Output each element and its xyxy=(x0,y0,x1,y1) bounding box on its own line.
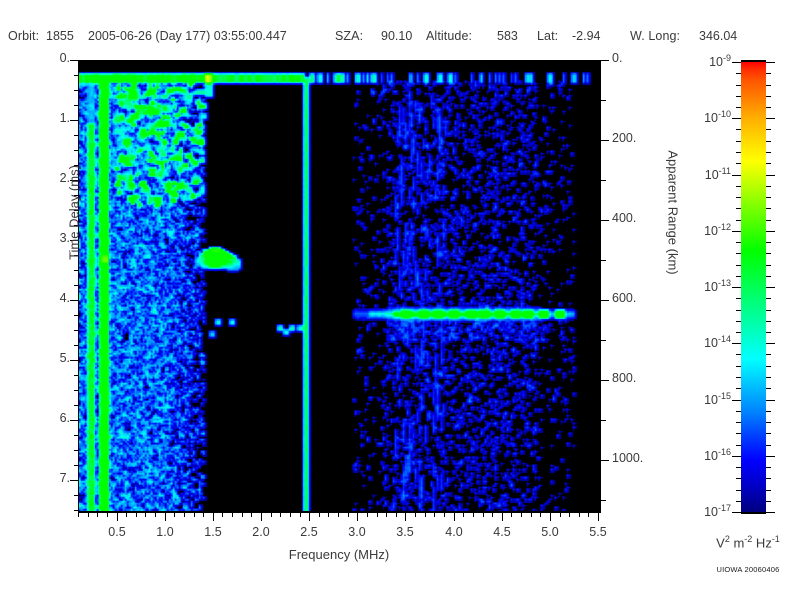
y2-tick-major-3 xyxy=(601,300,609,301)
colorbar-units-label: V2 m-2 Hz-1 xyxy=(700,534,796,550)
ionogram-heatmap-canvas xyxy=(79,61,600,512)
y2-tick-major-4 xyxy=(601,380,609,381)
x-tick-minor xyxy=(434,513,435,517)
colorbar-tick-right-0 xyxy=(766,62,775,63)
colorbar-tick-minor xyxy=(766,276,771,277)
colorbar-tick-label-8: 10-17 xyxy=(675,503,731,519)
y2-tick-label-2: 400. xyxy=(612,211,660,225)
y-tick-minor xyxy=(74,465,78,466)
x-tick-label-10: 5.5 xyxy=(574,525,622,539)
x-tick-minor xyxy=(569,513,570,517)
y-tick-label-0: 0. xyxy=(26,51,70,65)
colorbar-tick-minor xyxy=(736,354,741,355)
ionogram-page: Orbit: 1855 2005-06-26 (Day 177) 03:55:0… xyxy=(0,0,800,600)
colorbar-tick-minor xyxy=(736,501,741,502)
colorbar-tick-label-1: 10-10 xyxy=(675,109,731,125)
colorbar-tick-right-5 xyxy=(766,343,775,344)
y-tick-major-1 xyxy=(70,120,78,121)
x-tick-label-5: 3.0 xyxy=(333,525,381,539)
ionogram-plot-area xyxy=(78,60,600,512)
x-tick-minor xyxy=(78,513,79,517)
colorbar-tick-minor xyxy=(766,141,771,142)
west-longitude-label: W. Long: xyxy=(630,29,680,43)
altitude-value: 583 xyxy=(497,29,518,43)
y-tick-minor xyxy=(74,435,78,436)
colorbar-tick-minor xyxy=(736,197,741,198)
west-longitude-value: 346.04 xyxy=(699,29,737,43)
colorbar-tick-minor xyxy=(766,152,771,153)
x-tick-major-0 xyxy=(117,513,118,521)
colorbar-tick-minor xyxy=(736,73,741,74)
colorbar-tick-minor xyxy=(766,354,771,355)
y2-tick-label-3: 600. xyxy=(612,291,660,305)
x-tick-minor xyxy=(328,513,329,517)
y-tick-minor xyxy=(74,330,78,331)
x-tick-label-1: 1.0 xyxy=(141,525,189,539)
colorbar-tick-minor xyxy=(736,433,741,434)
colorbar-tick-left-2 xyxy=(732,175,741,176)
datetime-value: 2005-06-26 (Day 177) 03:55:00.447 xyxy=(88,29,287,43)
colorbar-tick-label-7: 10-16 xyxy=(675,447,731,463)
y-tick-minor xyxy=(74,345,78,346)
x-tick-minor xyxy=(222,513,223,517)
colorbar-tick-minor xyxy=(736,490,741,491)
sza-value: 90.10 xyxy=(381,29,412,43)
y2-tick-major-1 xyxy=(601,140,609,141)
colorbar-tick-minor xyxy=(736,366,741,367)
x-tick-minor xyxy=(290,513,291,517)
colorbar-tick-left-0 xyxy=(732,62,741,63)
y2-tick-label-5: 1000. xyxy=(612,451,660,465)
y-tick-minor xyxy=(74,315,78,316)
colorbar-tick-left-6 xyxy=(732,400,741,401)
colorbar-tick-minor xyxy=(736,242,741,243)
units-v: V xyxy=(716,535,725,550)
colorbar-gradient xyxy=(741,62,766,512)
y-tick-major-7 xyxy=(70,480,78,481)
x-tick-major-1 xyxy=(165,513,166,521)
x-tick-label-9: 5.0 xyxy=(526,525,574,539)
cb-mantissa-5: 10 xyxy=(704,336,718,350)
cb-exponent-2: -11 xyxy=(719,166,731,176)
x-tick-minor xyxy=(242,513,243,517)
x-tick-minor xyxy=(415,513,416,517)
x-tick-major-6 xyxy=(405,513,406,521)
x-tick-minor xyxy=(300,513,301,517)
colorbar-tick-minor xyxy=(736,129,741,130)
x-tick-minor xyxy=(145,513,146,517)
x-tick-minor xyxy=(560,513,561,517)
x-tick-label-8: 4.5 xyxy=(478,525,526,539)
colorbar-tick-minor xyxy=(766,310,771,311)
x-tick-label-0: 0.5 xyxy=(93,525,141,539)
units-hz-exp: -1 xyxy=(772,534,780,544)
latitude-label: Lat: xyxy=(537,29,558,43)
x-tick-minor xyxy=(425,513,426,517)
cb-exponent-6: -15 xyxy=(718,391,731,401)
x-tick-minor xyxy=(126,513,127,517)
x-tick-minor xyxy=(540,513,541,517)
y-tick-label-3: 3. xyxy=(26,231,70,245)
y-tick-minor xyxy=(74,75,78,76)
colorbar-tick-minor xyxy=(766,411,771,412)
x-axis-top-line xyxy=(78,60,601,61)
colorbar-tick-minor xyxy=(766,242,771,243)
colorbar-tick-label-4: 10-13 xyxy=(675,278,731,294)
x-tick-minor xyxy=(588,513,589,517)
colorbar xyxy=(741,62,766,512)
colorbar-tick-right-1 xyxy=(766,118,775,119)
x-tick-major-8 xyxy=(502,513,503,521)
x-tick-label-3: 2.0 xyxy=(237,525,285,539)
x-tick-minor xyxy=(579,513,580,517)
x-tick-minor xyxy=(348,513,349,517)
y-tick-minor xyxy=(74,375,78,376)
colorbar-tick-right-3 xyxy=(766,231,775,232)
colorbar-tick-minor xyxy=(736,332,741,333)
colorbar-tick-minor xyxy=(766,332,771,333)
x-tick-minor xyxy=(492,513,493,517)
observation-header: Orbit: 1855 2005-06-26 (Day 177) 03:55:0… xyxy=(0,29,800,49)
y2-tick-major-2 xyxy=(601,220,609,221)
y2-tick-minor xyxy=(601,340,606,341)
colorbar-tick-right-7 xyxy=(766,456,775,457)
x-tick-minor xyxy=(203,513,204,517)
x-tick-minor xyxy=(184,513,185,517)
y-tick-minor xyxy=(74,450,78,451)
cb-exponent-3: -12 xyxy=(718,222,731,232)
colorbar-tick-minor xyxy=(766,445,771,446)
cb-mantissa-6: 10 xyxy=(704,393,718,407)
colorbar-tick-minor xyxy=(766,433,771,434)
x-tick-minor xyxy=(531,513,532,517)
colorbar-tick-minor xyxy=(766,253,771,254)
colorbar-tick-minor xyxy=(766,298,771,299)
x-tick-minor xyxy=(88,513,89,517)
x-tick-minor xyxy=(367,513,368,517)
y-tick-label-7: 7. xyxy=(26,471,70,485)
institution-credit: UIOWA 20060406 xyxy=(700,565,796,574)
colorbar-tick-minor xyxy=(736,321,741,322)
x-tick-minor xyxy=(251,513,252,517)
cb-exponent-0: -9 xyxy=(723,53,731,63)
y-axis-right-line xyxy=(600,60,601,513)
y-tick-label-6: 6. xyxy=(26,411,70,425)
x-tick-minor xyxy=(386,513,387,517)
colorbar-tick-right-4 xyxy=(766,287,775,288)
colorbar-tick-minor xyxy=(736,478,741,479)
x-tick-minor xyxy=(521,513,522,517)
colorbar-tick-left-3 xyxy=(732,231,741,232)
colorbar-tick-minor xyxy=(766,186,771,187)
units-m: m xyxy=(730,535,744,550)
colorbar-tick-left-1 xyxy=(732,118,741,119)
colorbar-tick-minor xyxy=(736,85,741,86)
colorbar-tick-minor xyxy=(736,208,741,209)
colorbar-tick-right-2 xyxy=(766,175,775,176)
x-axis-bottom-line xyxy=(78,512,601,513)
y-tick-minor xyxy=(74,390,78,391)
colorbar-tick-minor xyxy=(736,310,741,311)
y-tick-minor xyxy=(74,495,78,496)
colorbar-tick-right-8 xyxy=(766,512,775,513)
x-tick-minor xyxy=(155,513,156,517)
orbit-value: 1855 xyxy=(46,29,74,43)
x-tick-major-9 xyxy=(550,513,551,521)
colorbar-tick-minor xyxy=(736,445,741,446)
colorbar-tick-minor xyxy=(766,107,771,108)
x-tick-minor xyxy=(377,513,378,517)
colorbar-tick-label-0: 10-9 xyxy=(675,53,731,69)
y-tick-major-4 xyxy=(70,300,78,301)
colorbar-tick-label-2: 10-11 xyxy=(675,166,731,182)
y2-tick-minor xyxy=(601,500,606,501)
cb-mantissa-4: 10 xyxy=(704,280,718,294)
cb-mantissa-8: 10 xyxy=(704,505,718,519)
colorbar-tick-minor xyxy=(766,129,771,130)
colorbar-tick-minor xyxy=(766,96,771,97)
colorbar-tick-minor xyxy=(736,298,741,299)
x-tick-minor xyxy=(463,513,464,517)
y2-tick-major-5 xyxy=(601,460,609,461)
colorbar-tick-minor xyxy=(736,411,741,412)
colorbar-tick-minor xyxy=(736,220,741,221)
colorbar-tick-label-3: 10-12 xyxy=(675,222,731,238)
colorbar-tick-minor xyxy=(766,366,771,367)
colorbar-tick-minor xyxy=(736,163,741,164)
colorbar-tick-minor xyxy=(766,467,771,468)
y-tick-minor xyxy=(74,105,78,106)
colorbar-tick-minor xyxy=(766,73,771,74)
sza-label: SZA: xyxy=(335,29,363,43)
colorbar-top-cap xyxy=(741,60,766,62)
cb-exponent-5: -14 xyxy=(718,334,731,344)
x-tick-minor xyxy=(97,513,98,517)
x-tick-minor xyxy=(280,513,281,517)
x-tick-major-7 xyxy=(454,513,455,521)
cb-mantissa-0: 10 xyxy=(709,55,723,69)
y2-tick-major-0 xyxy=(601,60,609,61)
y-tick-minor xyxy=(74,405,78,406)
x-tick-major-10 xyxy=(598,513,599,521)
cb-exponent-7: -16 xyxy=(718,447,731,457)
colorbar-tick-minor xyxy=(736,265,741,266)
colorbar-tick-minor xyxy=(736,377,741,378)
x-tick-minor xyxy=(319,513,320,517)
y-tick-label-5: 5. xyxy=(26,351,70,365)
y2-tick-label-4: 800. xyxy=(612,371,660,385)
colorbar-tick-minor xyxy=(766,208,771,209)
x-tick-major-2 xyxy=(213,513,214,521)
y-tick-minor xyxy=(74,90,78,91)
colorbar-tick-minor xyxy=(766,478,771,479)
y2-tick-minor xyxy=(601,420,606,421)
y2-tick-minor xyxy=(601,100,606,101)
units-hz: Hz xyxy=(752,535,772,550)
colorbar-tick-minor xyxy=(736,96,741,97)
x-tick-major-5 xyxy=(357,513,358,521)
y-tick-label-4: 4. xyxy=(26,291,70,305)
x-tick-minor xyxy=(473,513,474,517)
colorbar-tick-minor xyxy=(736,107,741,108)
x-tick-label-6: 3.5 xyxy=(381,525,429,539)
y-tick-label-1: 1. xyxy=(26,111,70,125)
x-tick-label-7: 4.0 xyxy=(430,525,478,539)
cb-mantissa-2: 10 xyxy=(705,168,719,182)
colorbar-tick-right-6 xyxy=(766,400,775,401)
colorbar-tick-left-7 xyxy=(732,456,741,457)
cb-exponent-4: -13 xyxy=(718,278,731,288)
colorbar-tick-minor xyxy=(766,197,771,198)
x-axis-title: Frequency (MHz) xyxy=(78,547,600,562)
y-tick-label-2: 2. xyxy=(26,171,70,185)
cb-mantissa-3: 10 xyxy=(704,224,718,238)
colorbar-tick-minor xyxy=(736,467,741,468)
x-tick-minor xyxy=(511,513,512,517)
colorbar-tick-minor xyxy=(736,152,741,153)
y2-tick-label-1: 200. xyxy=(612,131,660,145)
y2-tick-minor xyxy=(601,180,606,181)
x-tick-minor xyxy=(338,513,339,517)
colorbar-tick-left-8 xyxy=(732,512,741,513)
x-tick-major-4 xyxy=(309,513,310,521)
colorbar-tick-minor xyxy=(766,501,771,502)
altitude-label: Altitude: xyxy=(426,29,472,43)
y-tick-major-6 xyxy=(70,420,78,421)
colorbar-tick-minor xyxy=(766,321,771,322)
x-tick-minor xyxy=(271,513,272,517)
colorbar-tick-minor xyxy=(766,490,771,491)
x-tick-label-4: 2.5 xyxy=(285,525,333,539)
colorbar-bottom-cap xyxy=(741,512,766,514)
cb-mantissa-1: 10 xyxy=(704,111,718,125)
x-tick-minor xyxy=(194,513,195,517)
x-tick-minor xyxy=(444,513,445,517)
x-tick-minor xyxy=(174,513,175,517)
y-tick-major-0 xyxy=(70,60,78,61)
colorbar-tick-minor xyxy=(736,388,741,389)
x-tick-minor xyxy=(136,513,137,517)
colorbar-tick-left-5 xyxy=(732,343,741,344)
x-tick-minor xyxy=(107,513,108,517)
colorbar-tick-left-4 xyxy=(732,287,741,288)
cb-exponent-8: -17 xyxy=(718,503,731,513)
x-tick-minor xyxy=(232,513,233,517)
y2-tick-minor xyxy=(601,260,606,261)
y-tick-minor xyxy=(74,510,78,511)
colorbar-tick-minor xyxy=(766,220,771,221)
colorbar-tick-label-5: 10-14 xyxy=(675,334,731,350)
y-tick-major-5 xyxy=(70,360,78,361)
x-tick-label-2: 1.5 xyxy=(189,525,237,539)
y-axis-title-left: Time Delay (ms) xyxy=(67,133,82,293)
y2-tick-label-0: 0. xyxy=(612,51,660,65)
x-tick-major-3 xyxy=(261,513,262,521)
colorbar-tick-minor xyxy=(736,276,741,277)
colorbar-tick-minor xyxy=(766,377,771,378)
latitude-value: -2.94 xyxy=(572,29,601,43)
orbit-label: Orbit: xyxy=(8,29,39,43)
cb-exponent-1: -10 xyxy=(718,109,731,119)
colorbar-tick-minor xyxy=(766,265,771,266)
colorbar-tick-minor xyxy=(736,422,741,423)
x-tick-minor xyxy=(483,513,484,517)
colorbar-tick-minor xyxy=(736,253,741,254)
colorbar-tick-minor xyxy=(766,163,771,164)
colorbar-tick-minor xyxy=(736,141,741,142)
colorbar-tick-minor xyxy=(766,422,771,423)
cb-mantissa-7: 10 xyxy=(704,449,718,463)
x-tick-minor xyxy=(396,513,397,517)
colorbar-tick-label-6: 10-15 xyxy=(675,391,731,407)
colorbar-tick-minor xyxy=(736,186,741,187)
colorbar-tick-minor xyxy=(766,388,771,389)
colorbar-tick-minor xyxy=(766,85,771,86)
